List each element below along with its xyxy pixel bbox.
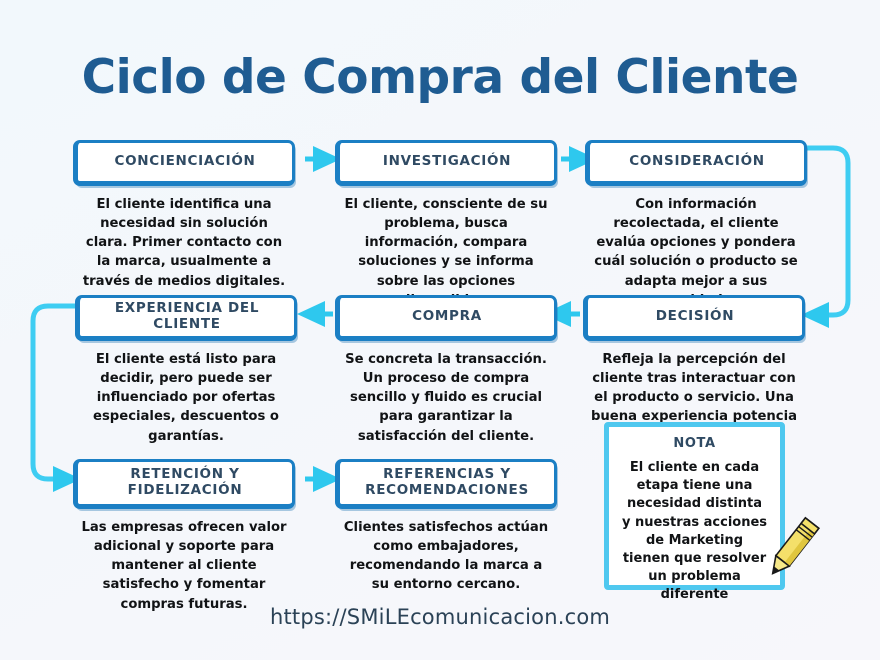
stage-description: Se concreta la transacción. Un proceso d… [335, 350, 557, 446]
note-body: El cliente en cada etapa tiene una neces… [609, 459, 780, 605]
stage-experiencia-del-cliente[interactable]: EXPERIENCIA DEL CLIENTE El cliente está … [75, 295, 297, 446]
stage-title-line-2: RECOMENDACIONES [365, 482, 529, 498]
stage-title-line-1: REFERENCIAS Y [383, 466, 511, 482]
stage-title-box[interactable]: RETENCIÓN Y FIDELIZACIÓN [73, 459, 295, 509]
stage-concienciacion[interactable]: CONCIENCIACIÓN El cliente identifica una… [73, 140, 295, 291]
pencil-icon [757, 508, 827, 588]
stage-investigacion[interactable]: INVESTIGACIÓN El cliente, consciente de … [335, 140, 557, 310]
stage-compra[interactable]: COMPRA Se concreta la transacción. Un pr… [335, 295, 557, 446]
stage-referencias-y-recomendaciones[interactable]: REFERENCIAS Y RECOMENDACIONES Clientes s… [335, 459, 557, 595]
stage-title-box[interactable]: COMPRA [335, 295, 557, 341]
stage-consideracion[interactable]: CONSIDERACIÓN Con información recolectad… [585, 140, 807, 310]
stage-title-label: EXPERIENCIA DEL CLIENTE [80, 301, 294, 332]
stage-description: Clientes satisfechos actúan como embajad… [335, 518, 557, 595]
stage-title-box[interactable]: EXPERIENCIA DEL CLIENTE [75, 295, 297, 341]
stage-title-line-2: FIDELIZACIÓN [128, 482, 243, 498]
stage-title-box[interactable]: INVESTIGACIÓN [335, 140, 557, 186]
stage-description: El cliente, consciente de su problema, b… [335, 195, 557, 310]
note-title: NOTA [609, 436, 780, 451]
stage-title-label: RETENCIÓN Y FIDELIZACIÓN [128, 467, 243, 498]
arrow-consideracion-to-decision [803, 148, 848, 315]
infographic-canvas: Ciclo de Compra del Cliente CONCIENCIACI… [0, 0, 880, 660]
stage-title-label: CONSIDERACIÓN [629, 154, 765, 170]
stage-title-box[interactable]: REFERENCIAS Y RECOMENDACIONES [335, 459, 557, 509]
stage-title-label: REFERENCIAS Y RECOMENDACIONES [365, 467, 529, 498]
stage-title-label: CONCIENCIACIÓN [114, 154, 255, 170]
footer-url[interactable]: https://SMiLEcomunicacion.com [0, 605, 880, 629]
stage-title-box[interactable]: DECISIÓN [583, 295, 805, 341]
stage-description: Con información recolectada, el cliente … [585, 195, 807, 310]
stage-title-label: INVESTIGACIÓN [383, 154, 511, 170]
stage-title-box[interactable]: CONCIENCIACIÓN [73, 140, 295, 186]
stage-description: El cliente identifica una necesidad sin … [73, 195, 295, 291]
stage-retencion-y-fidelizacion[interactable]: RETENCIÓN Y FIDELIZACIÓN Las empresas of… [73, 459, 295, 614]
stage-title-label: COMPRA [412, 309, 482, 325]
arrow-experiencia-to-retencion [33, 306, 76, 479]
stage-title-box[interactable]: CONSIDERACIÓN [585, 140, 807, 186]
stage-description: El cliente está listo para decidir, pero… [75, 350, 297, 446]
stage-title-line-1: RETENCIÓN Y [130, 466, 239, 482]
stage-description: Las empresas ofrecen valor adicional y s… [73, 518, 295, 614]
stage-title-label: DECISIÓN [656, 309, 734, 325]
